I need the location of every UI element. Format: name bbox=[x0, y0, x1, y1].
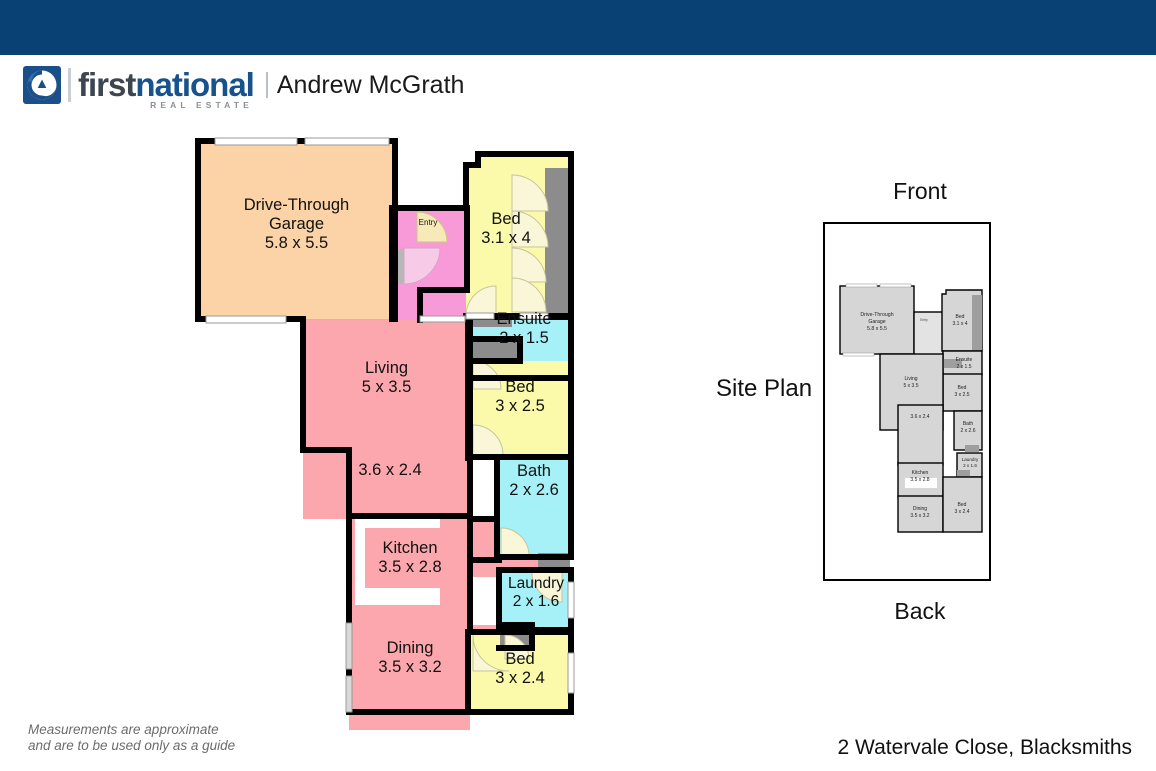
mini-label-bed2: Bed bbox=[958, 385, 967, 391]
logo-subtitle: REAL ESTATE bbox=[150, 100, 253, 110]
brand-bar: firstnational REAL ESTATE Andrew McGrath bbox=[22, 62, 464, 108]
bed1-wardrobe bbox=[545, 168, 570, 313]
svg-text:3.5 x 2.8: 3.5 x 2.8 bbox=[910, 477, 929, 483]
mini-label-entry: Entry bbox=[920, 318, 928, 322]
disclaimer-line-1: Measurements are approximate bbox=[28, 722, 235, 738]
first-national-logo-icon bbox=[22, 65, 62, 105]
svg-text:5 x 3.5: 5 x 3.5 bbox=[903, 383, 918, 389]
top-banner bbox=[0, 0, 1156, 55]
mini-label-ensuite: Ensuite bbox=[956, 357, 973, 363]
logo-word-first: first bbox=[78, 68, 135, 102]
mini-label-laundry: Laundry bbox=[962, 457, 979, 462]
brand-divider bbox=[266, 72, 268, 98]
svg-text:2 x 1.5: 2 x 1.5 bbox=[956, 364, 971, 370]
property-address: 2 Watervale Close, Blacksmiths bbox=[838, 736, 1132, 760]
svg-text:5.8 x 5.5: 5.8 x 5.5 bbox=[867, 326, 887, 332]
floor-plan: Drive-Through Garage 5.8 x 5.5 Entry Bed… bbox=[0, 120, 620, 730]
svg-text:3.5 x 3.2: 3.5 x 3.2 bbox=[910, 513, 929, 519]
site-plan-svg: Drive-Through Garage 5.8 x 5.5 Entry Bed… bbox=[700, 165, 1140, 635]
mini-label-garage: Drive-Through bbox=[860, 312, 893, 318]
disclaimer: Measurements are approximate and are to … bbox=[28, 722, 235, 755]
agent-name: Andrew McGrath bbox=[277, 70, 465, 100]
mini-label-bath: Bath bbox=[963, 421, 974, 427]
svg-text:3 x 2.5: 3 x 2.5 bbox=[954, 392, 969, 398]
mini-bed1-wardrobe bbox=[972, 295, 982, 350]
svg-text:Garage: Garage bbox=[868, 319, 885, 325]
svg-text:2 x 1.6: 2 x 1.6 bbox=[963, 463, 977, 468]
living-rect-b bbox=[349, 450, 470, 710]
svg-text:3.1 x 4: 3.1 x 4 bbox=[952, 321, 967, 327]
site-plan: Drive-Through Garage 5.8 x 5.5 Entry Bed… bbox=[700, 165, 1140, 635]
floor-plan-svg bbox=[0, 120, 620, 730]
mini-label-dining: Dining bbox=[913, 506, 927, 512]
mini-label-hall: 3.6 x 2.4 bbox=[910, 414, 929, 420]
first-national-wordmark: firstnational REAL ESTATE bbox=[78, 68, 254, 102]
mini-label-kitchen: Kitchen bbox=[912, 470, 929, 476]
ensuite-cupboard bbox=[470, 339, 520, 361]
disclaimer-line-2: and are to be used only as a guide bbox=[28, 738, 235, 754]
mini-label-living: Living bbox=[904, 376, 917, 382]
logo-word-national: national bbox=[135, 68, 254, 102]
svg-text:2 x 2.6: 2 x 2.6 bbox=[960, 428, 975, 434]
room-garage-fill bbox=[201, 141, 392, 319]
mini-label-bed1: Bed bbox=[956, 314, 965, 320]
mini-label-bed3: Bed bbox=[958, 502, 967, 508]
svg-text:3 x 2.4: 3 x 2.4 bbox=[954, 509, 969, 515]
mini-entry bbox=[914, 312, 943, 355]
logo-vertical-rule bbox=[68, 68, 71, 102]
